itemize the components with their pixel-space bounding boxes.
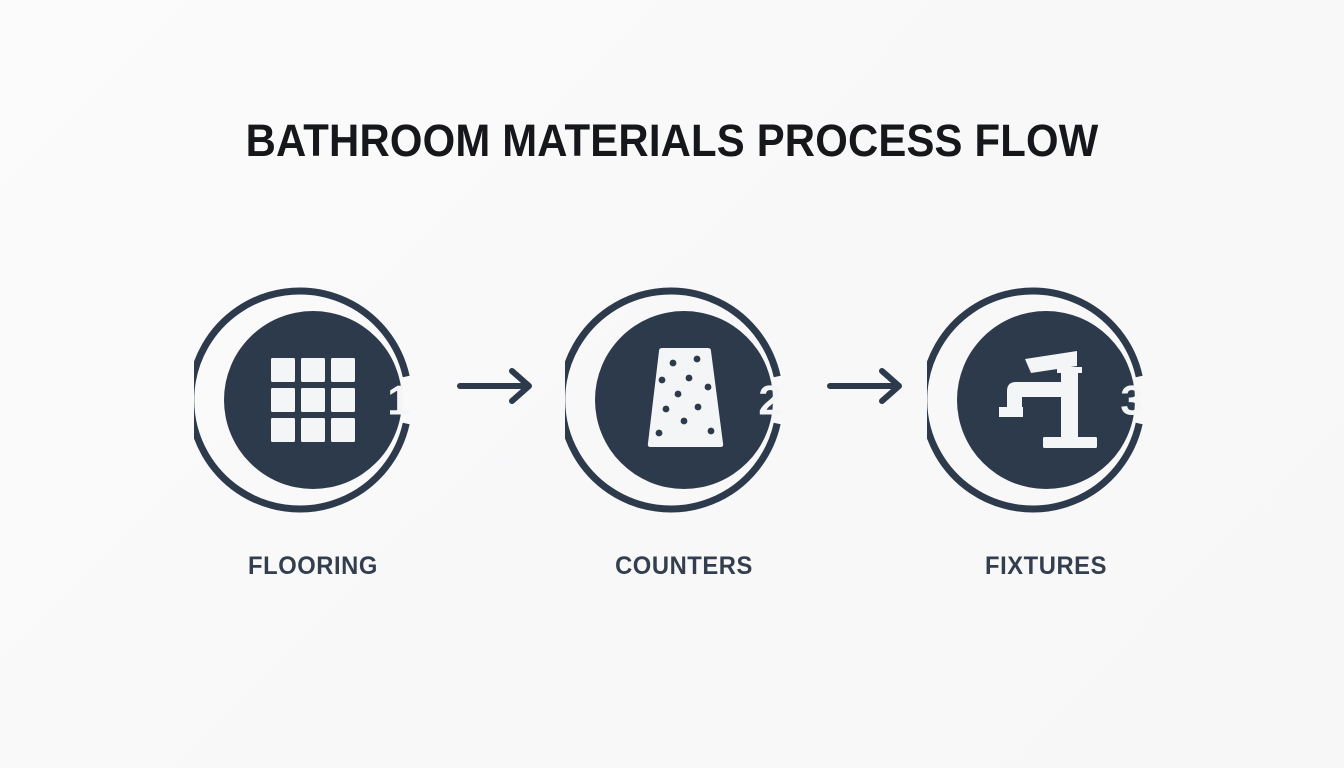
process-flow-row: 1 xyxy=(0,281,1344,521)
process-step-counters[interactable]: 2 xyxy=(565,281,803,519)
step-label-fixtures: FIXTURES xyxy=(904,552,1189,581)
connector-arrow-2 xyxy=(826,363,916,409)
step-number: 3 xyxy=(1120,377,1143,424)
stone-slab-icon xyxy=(646,346,725,449)
connector-arrow-1 xyxy=(456,363,546,409)
arrow-right-icon xyxy=(460,371,529,401)
diagram-canvas: BATHROOM MATERIALS PROCESS FLOW xyxy=(0,0,1344,768)
step-inner-disc xyxy=(957,311,1135,489)
tile-grid-icon xyxy=(271,358,355,442)
page-title: BATHROOM MATERIALS PROCESS FLOW xyxy=(47,117,1297,164)
step-number: 1 xyxy=(387,377,410,424)
step-label-flooring: FLOORING xyxy=(171,552,456,581)
step-number: 2 xyxy=(758,377,781,424)
process-step-fixtures[interactable]: 3 xyxy=(927,281,1165,519)
step-label-counters: COUNTERS xyxy=(542,552,827,581)
process-step-flooring[interactable]: 1 xyxy=(194,281,432,519)
arrow-right-icon xyxy=(830,371,899,401)
